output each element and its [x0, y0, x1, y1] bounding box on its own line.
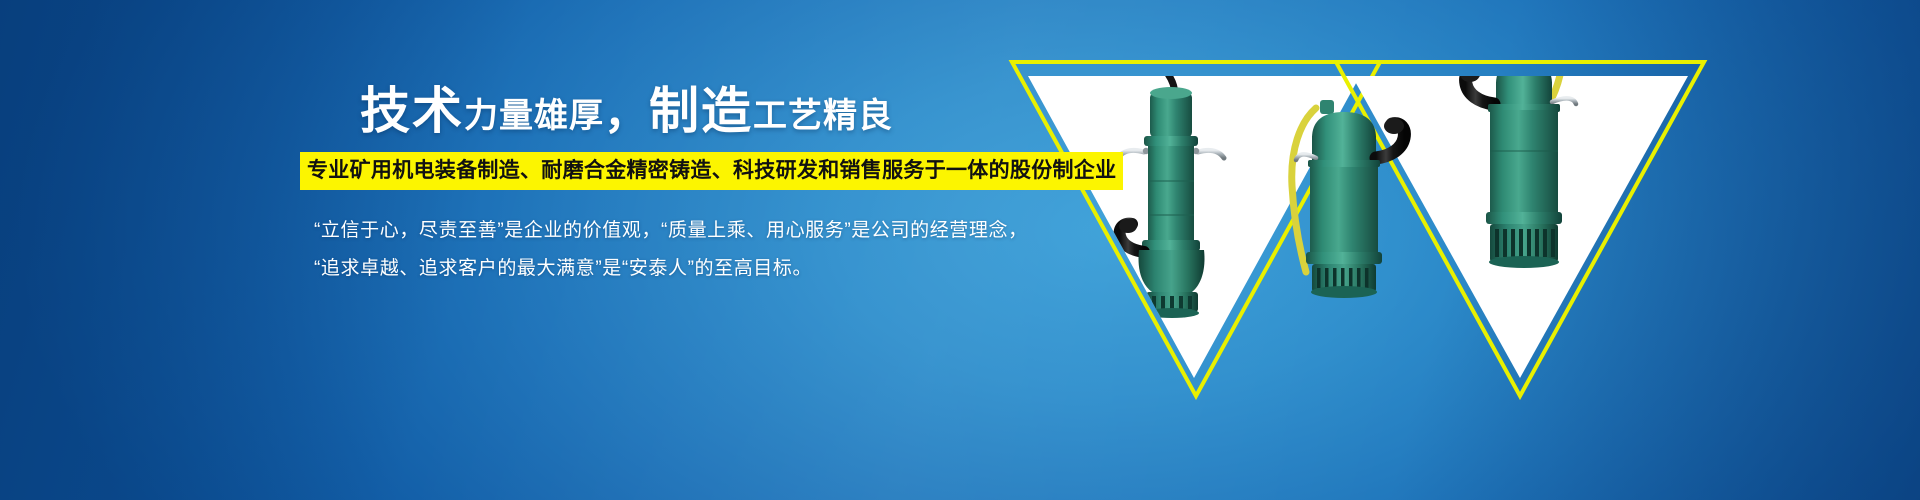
- banner-headline: 技术 力量雄厚 ， 制造 工艺精良: [360, 86, 920, 136]
- headline-segment-1-rest: 力量雄厚: [464, 99, 604, 133]
- triangles-and-products: [1000, 0, 1920, 500]
- paragraph-line-2: “追求卓越、追求客户的最大满意”是“安泰人”的至高目标。: [300, 250, 920, 288]
- headline-segment-2-emphasis: 制造: [649, 86, 753, 136]
- banner-paragraph: “立信于心，尽责至善”是企业的价值观，“质量上乘、用心服务”是公司的经营理念， …: [300, 212, 920, 288]
- banner-text-column: 技术 力量雄厚 ， 制造 工艺精良 专业矿用机电装备制造、耐磨合金精密铸造、科技…: [300, 86, 920, 288]
- promo-banner: 技术 力量雄厚 ， 制造 工艺精良 专业矿用机电装备制造、耐磨合金精密铸造、科技…: [0, 0, 1920, 500]
- headline-segment-2-rest: 工艺精良: [753, 99, 893, 133]
- product-graphic-panel: [1000, 0, 1920, 500]
- headline-segment-1-emphasis: 技术: [360, 86, 464, 136]
- paragraph-line-1: “立信于心，尽责至善”是企业的价值观，“质量上乘、用心服务”是公司的经营理念，: [300, 212, 920, 250]
- headline-comma: ，: [604, 92, 649, 136]
- tagline-highlight-bar: 专业矿用机电装备制造、耐磨合金精密铸造、科技研发和销售服务于一体的股份制企业: [300, 152, 1123, 190]
